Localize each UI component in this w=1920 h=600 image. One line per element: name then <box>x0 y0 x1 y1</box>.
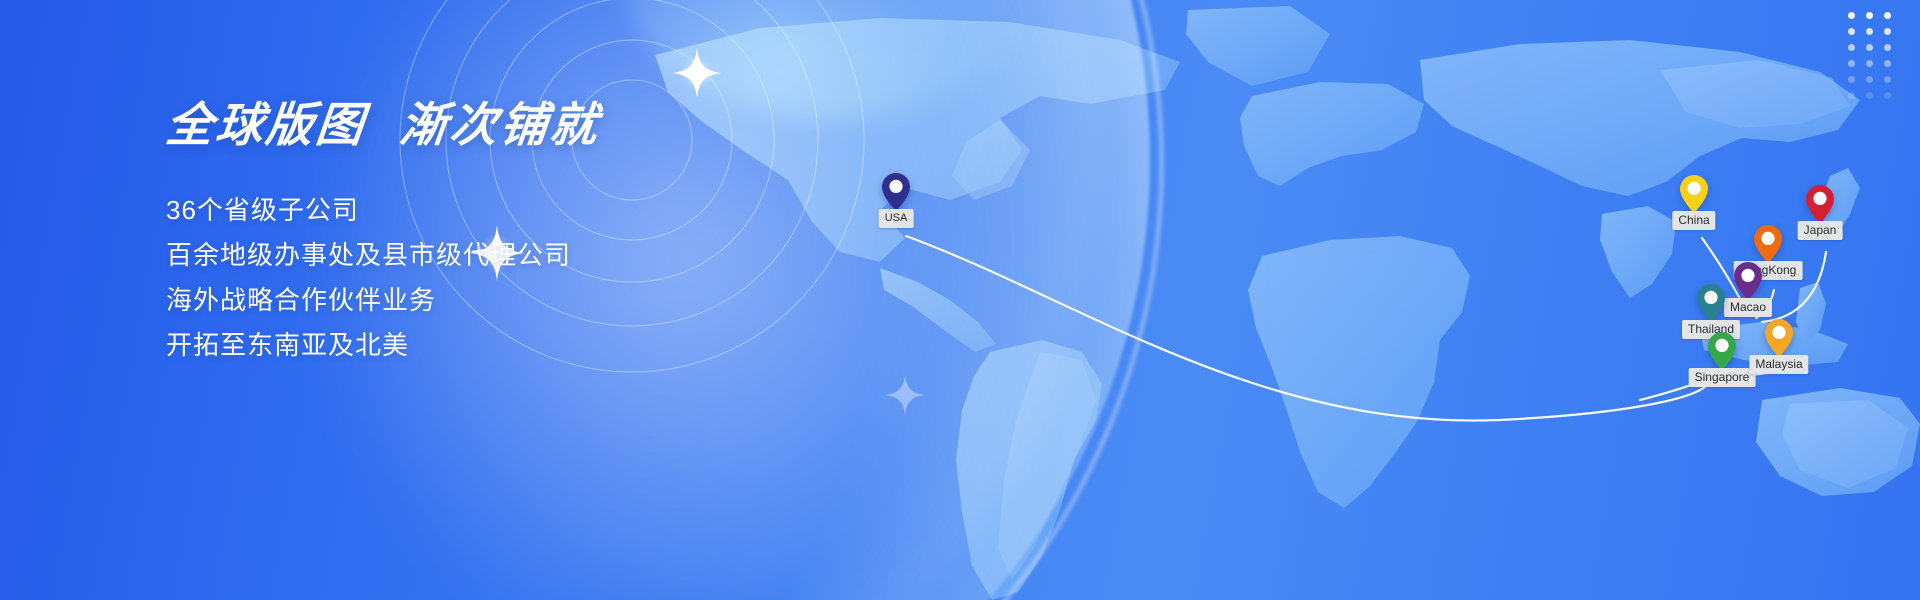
list-item: 百余地级办事处及县市级代理公司 <box>166 233 926 278</box>
dot-grid-decoration <box>1848 12 1902 108</box>
map-marker-china[interactable]: China <box>1680 175 1708 218</box>
map-marker-singapore[interactable]: Singapore <box>1708 332 1736 375</box>
map-pin-icon <box>1697 284 1725 322</box>
list-item: 海外战略合作伙伴业务 <box>166 278 926 323</box>
map-marker-malaysia[interactable]: Malaysia <box>1765 319 1793 362</box>
map-marker-label: USA <box>879 209 914 228</box>
list-item: 开拓至东南亚及北美 <box>166 323 926 368</box>
map-marker-label: China <box>1672 211 1715 230</box>
map-marker-label: Malaysia <box>1749 355 1808 374</box>
global-footprint-banner: 全球版图渐次铺就 36个省级子公司 百余地级办事处及县市级代理公司 海外战略合作… <box>0 0 1920 600</box>
map-pin-icon <box>1765 319 1793 357</box>
highlight-list: 36个省级子公司 百余地级办事处及县市级代理公司 海外战略合作伙伴业务 开拓至东… <box>166 188 926 368</box>
map-pin-icon <box>1680 175 1708 213</box>
headline-part-2: 渐次铺就 <box>397 98 603 151</box>
map-marker-label: Japan <box>1798 221 1843 240</box>
map-marker-thailand[interactable]: Thailand <box>1697 284 1725 327</box>
headline-part-1: 全球版图 <box>163 98 369 151</box>
map-marker-macao[interactable]: Macao <box>1734 262 1762 305</box>
map-pin-icon <box>1754 225 1782 263</box>
map-marker-usa[interactable]: USA <box>882 173 910 216</box>
map-marker-label: Macao <box>1724 298 1772 317</box>
map-pin-icon <box>1806 185 1834 223</box>
banner-copy: 全球版图渐次铺就 36个省级子公司 百余地级办事处及县市级代理公司 海外战略合作… <box>166 96 926 368</box>
page-title: 全球版图渐次铺就 <box>163 96 929 154</box>
list-item: 36个省级子公司 <box>166 188 926 233</box>
map-marker-label: Singapore <box>1689 368 1756 387</box>
map-pin-icon <box>1734 262 1762 300</box>
map-pin-icon <box>882 173 910 211</box>
map-pin-icon <box>1708 332 1736 370</box>
map-marker-japan[interactable]: Japan <box>1806 185 1834 228</box>
